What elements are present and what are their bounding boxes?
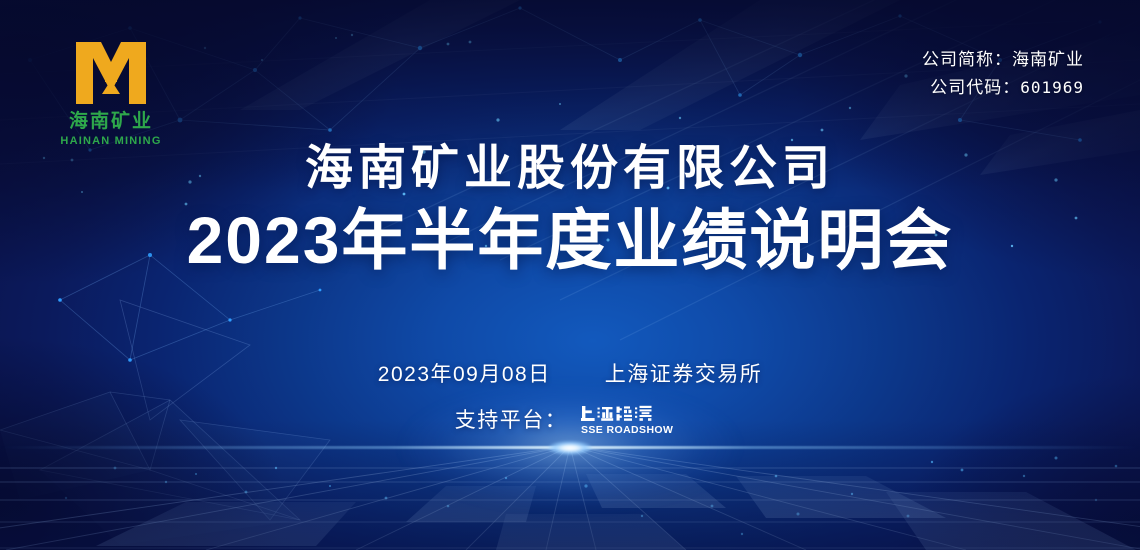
investor-briefing-poster: 海南矿业 HAINAN MINING 公司简称：海南矿业 公司代码：601969… [0,0,1140,550]
event-date: 2023年09月08日 [378,363,551,386]
svg-text:SSE ROADSHOW: SSE ROADSHOW [581,424,673,436]
company-logo: 海南矿业 HAINAN MINING [48,40,174,147]
event-meta-row: 2023年09月08日上海证券交易所 [0,358,1140,388]
company-short-name-value: 海南矿业 [1012,50,1084,69]
company-code-row: 公司代码：601969 [922,74,1084,102]
title-line-2: 2023年半年度业绩说明会 [0,204,1140,277]
company-short-name-row: 公司简称：海南矿业 [922,46,1084,74]
company-logo-name-cn: 海南矿业 [48,112,174,133]
company-code-value: 601969 [1020,78,1084,97]
platform-row: 支持平台： [0,402,1140,436]
title-line-1: 海南矿业股份有限公司 [0,142,1140,196]
poster-title: 海南矿业股份有限公司 2023年半年度业绩说明会 [0,142,1140,276]
sse-roadshow-logo-icon: SSE ROADSHOW [581,402,685,436]
hainan-mining-m-mark-icon [72,40,150,106]
event-venue: 上海证券交易所 [605,363,763,386]
company-code-label: 公司代码： [930,78,1020,97]
platform-label: 支持平台： [455,404,568,434]
corporate-info: 公司简称：海南矿业 公司代码：601969 [922,46,1084,101]
company-short-name-label: 公司简称： [922,50,1012,69]
